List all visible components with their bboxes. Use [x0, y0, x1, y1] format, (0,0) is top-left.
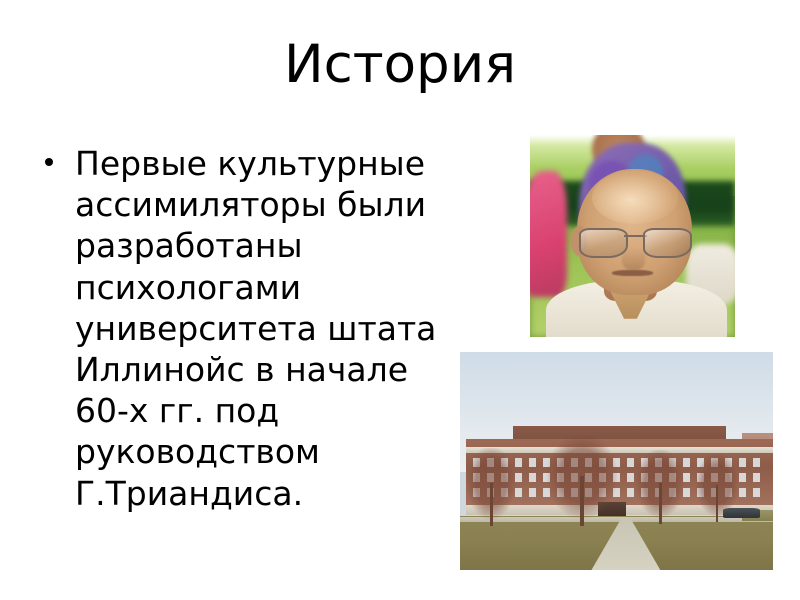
photo-subject-mouth — [612, 270, 653, 276]
slide: История Первые культурные ассимиляторы б… — [0, 0, 800, 600]
photo-subject-bald-crown — [592, 171, 678, 224]
eyeglasses-right-lens — [643, 228, 692, 259]
eyeglasses-icon — [579, 226, 692, 256]
photo-bare-tree — [632, 450, 688, 524]
photo-bare-tree — [692, 454, 742, 522]
photo-bare-tree — [463, 448, 519, 526]
list-item: Первые культурные ассимиляторы были разр… — [38, 143, 458, 514]
elderly-man-with-glasses-photo — [530, 135, 735, 337]
bullet-icon — [45, 158, 53, 166]
university-building-photo — [460, 352, 773, 570]
photo-pink-figure — [530, 171, 567, 296]
eyeglasses-left-lens — [579, 228, 628, 259]
body-text-block: Первые культурные ассимиляторы были разр… — [38, 143, 458, 514]
photo-bare-tree — [541, 435, 622, 527]
page-title: История — [0, 34, 800, 96]
list-item-label: Первые культурные ассимиляторы были разр… — [75, 144, 436, 513]
